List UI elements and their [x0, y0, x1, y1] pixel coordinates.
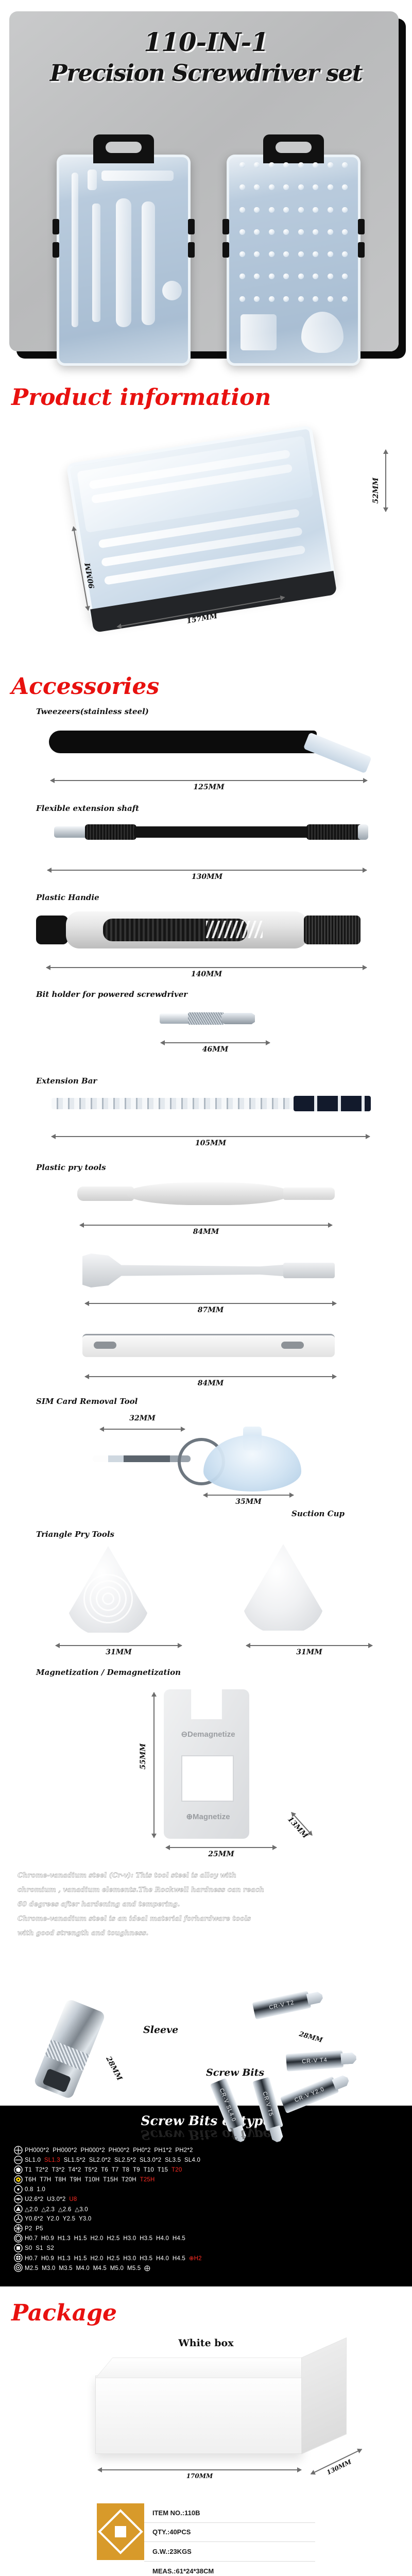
material-note-line: 60 degrees after hardening and tempering…	[18, 1900, 394, 1909]
dimension-pry-tool-3: 84MM	[85, 1373, 336, 1380]
bit-head-icon	[254, 229, 260, 235]
bit-head-icon	[269, 207, 274, 213]
dimension-label: 32MM	[100, 1414, 185, 1422]
accessory-label: Flexible extension shaft	[0, 804, 412, 813]
bit-slot	[323, 207, 337, 228]
dimension-label: 140MM	[46, 970, 367, 978]
material-note-line: with good strength and toughness.	[18, 1928, 394, 1938]
bit-head-icon	[313, 162, 318, 168]
bit-slot	[250, 274, 264, 294]
spec-row-gross-weight: G.W.:23KGS	[144, 2542, 315, 2562]
triangle-pry-tool-photo	[67, 1546, 149, 1636]
bit-slot	[250, 229, 264, 250]
demagnetize-mark: ⊖Demagnetize	[172, 1730, 244, 1739]
tweezers-photo	[49, 725, 368, 761]
bit-slot	[280, 251, 294, 272]
bit-slot	[280, 229, 294, 250]
dimension-label: 130MM	[312, 2451, 366, 2483]
product-dimensions-figure: 157MM 90MM 52MM	[0, 418, 412, 660]
bit-row: H0.7 H0.9 H1.3 H1.5 H2.0 H2.5 H3.0 H3.5 …	[11, 2253, 412, 2262]
bit-slot	[338, 162, 352, 183]
torx-icon	[11, 2165, 25, 2174]
bit-slot	[323, 274, 337, 294]
bit-row: T1 T2*2 T3*2 T4*2 T5*2 T6 T7 T8 T9 T10 T…	[11, 2165, 412, 2174]
dimension-label: 130MM	[47, 873, 367, 881]
bit-head-icon	[298, 296, 304, 302]
accessory-extension-bar: Extension Bar 105MM	[0, 1076, 412, 1163]
bit-head-icon	[254, 251, 260, 257]
bit-row-values: U2.6*2 U3.0*2 U8	[25, 2196, 77, 2202]
dimension-box-depth: 130MM	[309, 2446, 363, 2478]
screw-bits-label: Screw Bits	[206, 2067, 264, 2078]
bit-slot	[280, 184, 294, 205]
magnetizer-shape	[241, 314, 277, 350]
accessory-sim-card-removal-tool: SIM Card Removal Tool 32MM 35MM Suction …	[0, 1397, 412, 1530]
bit-slot	[235, 184, 249, 205]
bit-slot	[294, 274, 308, 294]
bit-slot	[323, 229, 337, 250]
bit-slot	[309, 207, 323, 228]
dimension-magnetizer-height: 55MM	[150, 1692, 158, 1838]
bits-list: PH000*2 PH000*2 PH000*2 PH00*2 PH0*2 PH1…	[0, 2143, 412, 2272]
bit-slot	[235, 162, 249, 183]
bit-slot	[280, 207, 294, 228]
sleeve-and-bits-figure: Sleeve 28MM Screw Bits CR-V T2 28MM CR-V…	[0, 1946, 412, 2106]
bit-head-icon	[313, 229, 318, 235]
magnetize-mark: ⊕Magnetize	[172, 1812, 244, 1821]
dimension-label: 31MM	[56, 1648, 182, 1656]
accessory-label: Extension Bar	[0, 1076, 412, 1086]
bit-row-values: SL1.0 SL1.3 SL1.5*2 SL2.0*2 SL2.5*2 SL3.…	[25, 2157, 200, 2163]
bit-head-icon	[298, 229, 304, 235]
bit-slot	[235, 229, 249, 250]
hinge-icon	[358, 242, 365, 258]
dimension-bit-holder: 46MM	[161, 1039, 270, 1046]
bit-row: T6H T7H T8H T9H T10H T15H T20H T25H	[11, 2175, 412, 2184]
accessory-label: Plastic Handie	[0, 893, 412, 902]
material-note-line: chromium , vanadium elements.The Rockwel…	[18, 1885, 394, 1895]
bit-slot	[250, 207, 264, 228]
dimension-triangle-right: 31MM	[246, 1642, 372, 1649]
accessory-label: SIM Card Removal Tool	[0, 1397, 412, 1406]
bit-head-icon	[239, 162, 245, 168]
tool-shape	[104, 545, 306, 585]
bit-slot	[309, 229, 323, 250]
dimension-label: 31MM	[246, 1648, 372, 1656]
carton-box-photo	[95, 2376, 302, 2454]
bit-head-icon	[283, 296, 289, 302]
hang-tab-icon	[93, 134, 154, 163]
carton-lid	[95, 2358, 320, 2378]
accessory-plastic-pry-tools: Plastic pry tools 84MM 87MM	[0, 1163, 412, 1397]
dimension-label: 46MM	[161, 1045, 270, 1054]
bit-slot	[235, 251, 249, 272]
package-box-label: White box	[0, 2333, 412, 2352]
phillips-icon	[11, 2146, 25, 2155]
bit-head-icon	[298, 207, 304, 213]
socket-icon	[11, 2263, 25, 2272]
bit-head-icon	[239, 184, 245, 190]
dimension-label: 25MM	[166, 1850, 277, 1858]
accessory-triangle-pry-tools: Triangle Pry Tools 31MM 31MM	[0, 1530, 412, 1668]
accessory-tweezers: Tweezeers(stainless steel) 125MM	[0, 707, 412, 804]
hinge-icon	[222, 219, 229, 234]
spec-row-item-no: ITEM NO.:110B	[144, 2503, 315, 2523]
slotted-icon	[11, 2156, 25, 2164]
material-note: Chrome-vanadium steel (Cr-v): This tool …	[0, 1857, 412, 1946]
pozidriv-icon	[11, 2224, 25, 2233]
bit-head-icon	[239, 251, 245, 257]
sleeve-photo	[33, 1998, 106, 2100]
bit-head-icon	[283, 229, 289, 235]
bit-head-icon	[342, 296, 348, 302]
bit-head-icon	[342, 251, 348, 257]
bit-row-values: H0.7 H0.9 H1.3 H1.5 H2.0 H2.5 H3.0 H3.5 …	[25, 2235, 185, 2242]
bit-head-icon	[328, 274, 333, 279]
bits-panel-title: Screw Bits of type	[0, 2114, 412, 2128]
bit-head-icon	[313, 207, 318, 213]
hinge-icon	[358, 219, 365, 234]
dimension-magnetizer-width: 25MM	[166, 1844, 277, 1851]
dimension-box-width: 170MM	[98, 2466, 301, 2473]
dimension-label: 125MM	[50, 783, 367, 791]
triangle-pry-shape	[301, 312, 344, 353]
bit-slot	[250, 184, 264, 205]
dimension-sleeve-label: 28MM	[104, 2055, 124, 2082]
bit-row: M2.5 M3.0 M3.5 M4.0 M4.5 M5.0 M5.5 ⨁	[11, 2263, 412, 2272]
bit-slot	[309, 274, 323, 294]
bit-slot	[235, 274, 249, 294]
bit-slot	[294, 296, 308, 317]
bit-slot	[294, 229, 308, 250]
hinge-icon	[222, 242, 229, 258]
bit-head-icon	[269, 229, 274, 235]
bit-head-icon	[269, 251, 274, 257]
bit-row-values: 0.8 1.0	[25, 2187, 45, 2193]
accessory-label: Bit holder for powered screwdriver	[0, 990, 412, 999]
section-heading-package: Package	[0, 2286, 412, 2333]
hex-icon	[11, 2234, 25, 2243]
hero-title-primary: 110-IN-1	[0, 27, 412, 57]
bit-head-icon	[298, 162, 304, 168]
u-shape-icon	[11, 2195, 25, 2204]
bit-slot	[309, 162, 323, 183]
bit-head-icon	[283, 274, 289, 279]
bit-row: 0.8 1.0	[11, 2185, 412, 2194]
pry-tool-photo	[82, 1253, 335, 1287]
bit-slot	[265, 296, 279, 317]
bit-slot	[309, 251, 323, 272]
bit-head-icon	[283, 162, 289, 168]
hinge-icon	[188, 242, 195, 258]
bit-head-icon	[283, 251, 289, 257]
bit-slot	[265, 184, 279, 205]
accessory-label: Tweezeers(stainless steel)	[0, 707, 412, 716]
triangle-pry-tool-photo	[242, 1544, 324, 1634]
dimension-height-label: 52MM	[372, 478, 380, 503]
bit-head-icon	[313, 184, 318, 190]
flexible-shaft-photo	[49, 820, 368, 845]
bit-tray-grid	[235, 162, 352, 317]
bit-slot	[250, 296, 264, 317]
bit-head-icon	[254, 207, 260, 213]
extension-bar-photo	[51, 1093, 371, 1113]
bit-slot	[280, 274, 294, 294]
bit-row-values: T6H T7H T8H T9H T10H T15H T20H T25H	[25, 2177, 155, 2183]
package-spec-table: ITEM NO.:110B QTY.:40PCS G.W.:23KGS MEAS…	[144, 2503, 315, 2576]
dimension-flexible-shaft: 130MM	[47, 867, 367, 874]
dimension-pry-tool-2: 87MM	[85, 1300, 336, 1307]
tool-shape	[142, 201, 155, 325]
bit-head-icon	[283, 184, 289, 190]
bit-slot	[235, 207, 249, 228]
bit-head-icon	[328, 251, 333, 257]
bit-head-icon	[298, 251, 304, 257]
package-box-figure: 170MM 130MM	[0, 2352, 412, 2501]
bit-head-icon	[328, 207, 333, 213]
bit-slot	[235, 296, 249, 317]
bit-slot	[280, 296, 294, 317]
tool-shape	[72, 173, 78, 327]
dimension-label: 35MM	[203, 1498, 294, 1506]
bit-head-icon	[328, 296, 333, 302]
bit-holder-photo	[160, 1010, 255, 1027]
screw-bits-type-panel: Screw Bits of type Screw Bits of type PH…	[0, 2106, 412, 2286]
bit-row-values: H0.7 H0.9 H1.3 H1.5 H2.0 H2.5 H3.0 H3.5 …	[25, 2255, 202, 2262]
dimension-label: 13MM	[284, 1814, 311, 1842]
bit-slot	[338, 184, 352, 205]
bit-head-icon	[269, 184, 274, 190]
bit-head-icon	[254, 162, 260, 168]
bit-head-icon	[328, 162, 333, 168]
accessory-label: Plastic pry tools	[0, 1163, 412, 1172]
accessory-flexible-extension-shaft: Flexible extension shaft 130MM	[0, 804, 412, 893]
dimension-plastic-handle: 140MM	[46, 964, 367, 971]
bit-head-icon	[313, 274, 318, 279]
magnetizer-photo: ⊖Demagnetize ⊕Magnetize	[164, 1689, 249, 1839]
bit-slot	[294, 184, 308, 205]
bit-head-icon	[254, 184, 260, 190]
bit-slot	[250, 162, 264, 183]
bit-head-icon	[342, 184, 348, 190]
spec-row-qty: QTY.:40PCS	[144, 2523, 315, 2543]
bit-row: H0.7 H0.9 H1.3 H1.5 H2.0 H2.5 H3.0 H3.5 …	[11, 2234, 412, 2243]
dimension-magnetizer-depth: 13MM	[289, 1810, 315, 1838]
dimension-bit-label: 28MM	[298, 2030, 323, 2044]
bit-row-values: PH000*2 PH000*2 PH000*2 PH00*2 PH0*2 PH1…	[25, 2147, 193, 2154]
bit-head-icon	[254, 274, 260, 279]
section-heading-product-information: Product information	[0, 371, 412, 418]
bit-slot	[265, 274, 279, 294]
bit-row: △2.0 △2.3 △2.6 △3.0	[11, 2205, 412, 2213]
product-case-angled-photo	[66, 425, 337, 623]
dimension-label: 84MM	[80, 1228, 332, 1236]
bit-slot	[294, 251, 308, 272]
hero-banner: 110-IN-1 Precision Screwdriver set	[0, 0, 412, 371]
bit-slot	[323, 184, 337, 205]
bit-head-icon	[254, 296, 260, 302]
bit-row-values: △2.0 △2.3 △2.6 △3.0	[25, 2206, 88, 2213]
bit-head-icon	[283, 207, 289, 213]
bit-head-icon	[269, 162, 274, 168]
bit-head-icon	[342, 229, 348, 235]
material-note-line: Chrome-vanadium steel is an ideal materi…	[18, 1914, 394, 1924]
bit-row: Y0.6*2 Y2.0 Y2.5 Y3.0	[11, 2214, 412, 2223]
bit-head-icon	[298, 184, 304, 190]
pry-tool-photo	[77, 1179, 335, 1208]
bit-head-icon	[313, 296, 318, 302]
dimension-extension-bar: 105MM	[51, 1133, 370, 1140]
bit-head-icon	[269, 296, 274, 302]
dimension-label: 84MM	[85, 1379, 336, 1387]
bit-head-icon	[298, 274, 304, 279]
bit-row: SL1.0 SL1.3 SL1.5*2 SL2.0*2 SL2.5*2 SL3.…	[11, 2156, 412, 2164]
dimension-triangle-left: 31MM	[56, 1642, 182, 1649]
bit-row: S0 S1 S2	[11, 2244, 412, 2252]
dimension-label: 170MM	[98, 2472, 301, 2480]
bit-row-values: P2 P5	[25, 2226, 43, 2232]
dimension-sim-pin: 32MM	[100, 1426, 185, 1433]
screw-bit-photo: CR-V T2	[252, 1991, 312, 2020]
suction-cup-shape	[162, 281, 182, 300]
bit-row: U2.6*2 U3.0*2 U8	[11, 2195, 412, 2204]
dimension-label: 55MM	[139, 1743, 147, 1769]
section-heading-accessories: Accessories	[0, 660, 412, 707]
bit-head-icon	[239, 296, 245, 302]
sleeve-label: Sleeve	[143, 2024, 178, 2036]
dimension-pry-tool-1: 84MM	[80, 1222, 332, 1229]
bit-slot	[338, 296, 352, 317]
bit-slot	[280, 162, 294, 183]
bit-head-icon	[342, 162, 348, 168]
bit-slot	[338, 251, 352, 272]
bit-slot	[294, 162, 308, 183]
tool-shape	[101, 527, 303, 567]
tool-shape	[92, 204, 100, 322]
bit-slot	[323, 162, 337, 183]
screw-bit-photo: CR-V T4	[286, 2050, 344, 2072]
bit-head-icon	[239, 229, 245, 235]
bit-slot	[250, 251, 264, 272]
plastic-handle-photo	[36, 907, 376, 952]
bit-head-icon	[313, 251, 318, 257]
hex-socket-icon	[11, 2253, 25, 2262]
dimension-label: 105MM	[51, 1139, 370, 1147]
package-spec-block: ITEM NO.:110B QTY.:40PCS G.W.:23KGS MEAS…	[0, 2501, 412, 2576]
bit-slot	[265, 251, 279, 272]
bit-slot	[338, 274, 352, 294]
product-listing-page: 110-IN-1 Precision Screwdriver set	[0, 0, 412, 2576]
tool-shape	[116, 198, 131, 327]
suction-cup-label: Suction Cup	[291, 1509, 345, 1518]
bit-head-icon	[328, 229, 333, 235]
hang-tab-icon	[263, 134, 324, 163]
material-note-line: Chrome-vanadium steel (Cr-v): This tool …	[18, 1871, 394, 1880]
bit-row-values: Y0.6*2 Y2.0 Y2.5 Y3.0	[25, 2216, 91, 2222]
bit-slot	[265, 207, 279, 228]
tool-shape	[88, 170, 97, 190]
bit-slot	[265, 229, 279, 250]
accessory-bit-holder: Bit holder for powered screwdriver 46MM	[0, 990, 412, 1076]
bit-row-values: M2.5 M3.0 M3.5 M4.0 M4.5 M5.0 M5.5 ⨁	[25, 2264, 150, 2272]
product-case-right-photo	[227, 155, 360, 366]
bit-row: PH000*2 PH000*2 PH000*2 PH00*2 PH0*2 PH1…	[11, 2146, 412, 2155]
carton-side	[301, 2337, 347, 2454]
torx-security-icon	[11, 2175, 25, 2184]
accessory-label: Triangle Pry Tools	[0, 1530, 412, 1539]
bit-slot	[338, 229, 352, 250]
bit-slot	[323, 251, 337, 272]
pentalobe-icon	[11, 2185, 25, 2194]
bit-row-values: S0 S1 S2	[25, 2245, 54, 2251]
bit-head-icon	[328, 184, 333, 190]
spec-row-measurement: MEAS.:61*24*38CM	[144, 2562, 315, 2576]
triangle-icon	[11, 2205, 25, 2213]
hinge-icon	[53, 242, 59, 258]
bit-head-icon	[342, 274, 348, 279]
bit-slot	[338, 207, 352, 228]
bit-head-icon	[239, 274, 245, 279]
accessory-plastic-handle: Plastic Handie 140MM	[0, 893, 412, 990]
tri-wing-icon	[11, 2214, 25, 2223]
hinge-icon	[188, 219, 195, 234]
bit-head-icon	[239, 207, 245, 213]
square-icon	[11, 2244, 25, 2252]
bit-head-icon	[269, 274, 274, 279]
hinge-icon	[53, 219, 59, 234]
accessory-magnetizer: Magnetization / Demagnetization ⊖Demagne…	[0, 1668, 412, 1857]
dimension-height: 52MM	[382, 450, 389, 512]
bit-slot	[294, 207, 308, 228]
bit-row-values: T1 T2*2 T3*2 T4*2 T5*2 T6 T7 T8 T9 T10 T…	[25, 2167, 182, 2173]
brand-logo-icon	[97, 2503, 144, 2560]
dimension-label: 87MM	[85, 1306, 336, 1314]
accessory-label: Magnetization / Demagnetization	[0, 1668, 412, 1677]
bits-panel-title-reflection: Screw Bits of type	[0, 2128, 412, 2141]
bit-slot	[265, 162, 279, 183]
bit-head-icon	[342, 207, 348, 213]
tool-shape	[101, 171, 174, 181]
product-case-left-photo	[57, 155, 191, 366]
pry-tool-photo	[82, 1334, 335, 1357]
dimension-tweezers: 125MM	[50, 777, 367, 784]
hero-title-secondary: Precision Screwdriver set	[0, 59, 412, 87]
bit-row: P2 P5	[11, 2224, 412, 2233]
dimension-suction-cup: 35MM	[203, 1492, 294, 1499]
bit-slot	[309, 184, 323, 205]
